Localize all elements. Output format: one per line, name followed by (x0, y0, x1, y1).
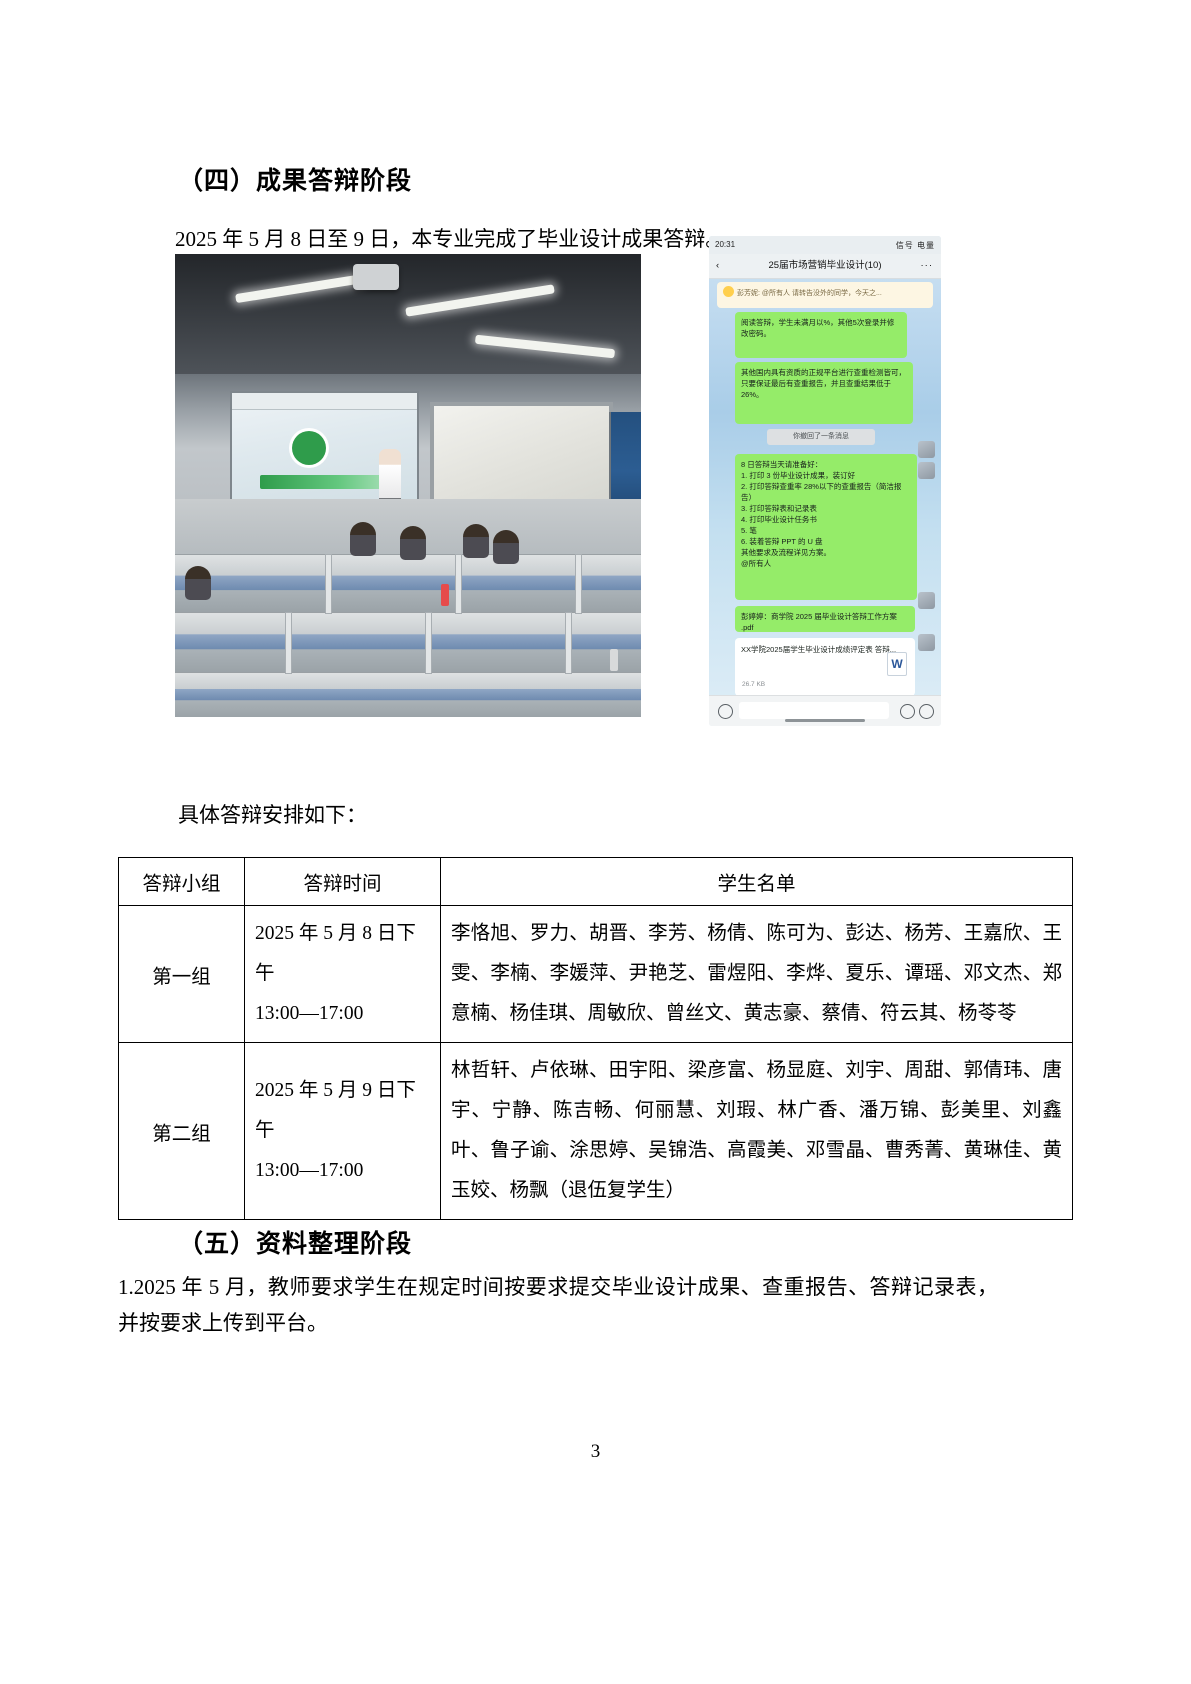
student-figure (400, 526, 426, 560)
screen-banner (260, 475, 390, 489)
projector (353, 264, 399, 290)
cell-time: 2025 年 5 月 9 日下午 13:00—17:00 (245, 1043, 441, 1220)
student-figure (493, 530, 519, 564)
avatar (918, 592, 935, 609)
cell-group: 第二组 (119, 1043, 245, 1220)
screen-logo (292, 431, 326, 465)
section-five-heading: （五）资料整理阶段 (178, 1224, 412, 1260)
cell-timerange: 13:00—17:00 (255, 994, 430, 1034)
cell-group: 第一组 (119, 906, 245, 1043)
file-name: XX学院2025届学生毕业设计成绩评定表 答辩... (741, 645, 896, 654)
cell-timerange: 13:00—17:00 (255, 1151, 430, 1191)
table-row: 第一组 2025 年 5 月 8 日下午 13:00—17:00 李恪旭、罗力、… (119, 906, 1073, 1043)
water-bottle (610, 649, 618, 671)
header-time: 答辩时间 (245, 858, 441, 906)
page-number: 3 (0, 1441, 1191, 1463)
student-figure (350, 522, 376, 556)
screen-toolbar (232, 393, 417, 410)
file-size: 26.7 KB (742, 679, 765, 690)
desk-row (175, 554, 641, 613)
back-icon[interactable]: ‹ (716, 254, 719, 278)
file-card[interactable]: XX学院2025届学生毕业设计成绩评定表 答辩... W 26.7 KB (735, 638, 915, 696)
document-page: （四）成果答辩阶段 2025 年 5 月 8 日至 9 日，本专业完成了毕业设计… (0, 0, 1191, 1684)
avatar (918, 462, 935, 479)
add-icon[interactable] (919, 704, 934, 719)
chat-bubble: 8 日答辩当天请准备好： 1. 打印 3 份毕业设计成果，装订好 2. 打印答辩… (735, 454, 917, 600)
home-indicator (785, 719, 865, 722)
word-file-icon: W (887, 652, 907, 676)
notice-text: 彭芳妮: @所有人 请转告没外的同学，今天之... (737, 290, 882, 297)
more-icon[interactable]: ··· (921, 254, 934, 278)
phone-status-bar: 20:31 信号 电量 (709, 236, 941, 254)
table-header-row: 答辩小组 答辩时间 学生名单 (119, 858, 1073, 906)
cell-date: 2025 年 5 月 8 日下午 (255, 914, 430, 994)
header-students: 学生名单 (441, 858, 1073, 906)
cell-students: 林哲轩、卢依琳、田宇阳、梁彦富、杨显庭、刘宇、周甜、郭倩玮、唐宇、宁静、陈吉畅、… (441, 1043, 1073, 1220)
voice-icon[interactable] (718, 704, 733, 719)
desk-divider (325, 554, 332, 614)
header-group: 答辩小组 (119, 858, 245, 906)
chat-bubble: 其他国内具有资质的正规平台进行查重检测皆可，只要保证最后有查重报告，并且查重结果… (735, 362, 913, 424)
final-paragraph: 1.2025 年 5 月，教师要求学生在规定时间按要求提交毕业设计成果、查重报告… (118, 1269, 998, 1341)
desk-divider (285, 612, 292, 674)
schedule-label: 具体答辩安排如下： (178, 797, 778, 833)
chat-bubble-file-link[interactable]: 彭婷婷：商学院 2025 届毕业设计答辩工作方案 .pdf (735, 606, 915, 632)
chat-input[interactable] (739, 702, 889, 719)
desk-divider (455, 554, 462, 614)
desk-row (175, 672, 641, 717)
defense-schedule-table: 答辩小组 答辩时间 学生名单 第一组 2025 年 5 月 8 日下午 13:0… (118, 857, 1073, 1220)
group-notice[interactable]: 彭芳妮: @所有人 请转告没外的同学，今天之... (717, 282, 933, 308)
wechat-screenshot: 20:31 信号 电量 ‹ 25届市场营销毕业设计(10) ··· 彭芳妮: @… (709, 236, 941, 726)
cell-time: 2025 年 5 月 8 日下午 13:00—17:00 (245, 906, 441, 1043)
student-figure (185, 566, 211, 600)
water-bottle (441, 584, 449, 606)
status-time: 20:31 (715, 240, 735, 249)
system-message: 你撤回了一条消息 (767, 429, 875, 445)
avatar (918, 634, 935, 651)
table-row: 第二组 2025 年 5 月 9 日下午 13:00—17:00 林哲轩、卢依琳… (119, 1043, 1073, 1220)
student-figure (463, 524, 489, 558)
emoji-icon[interactable] (900, 704, 915, 719)
notice-avatar-icon (723, 286, 734, 297)
chat-title-bar: ‹ 25届市场营销毕业设计(10) ··· (709, 254, 941, 279)
cell-date: 2025 年 5 月 9 日下午 (255, 1071, 430, 1151)
avatar (918, 441, 935, 458)
status-icons: 信号 电量 (896, 240, 935, 251)
chat-group-title: 25届市场营销毕业设计(10) (769, 260, 882, 271)
chat-bubble: 阅读答辩，学生未满月以%，其他5次登录并修改密码。 (735, 312, 907, 358)
desk-divider (425, 612, 432, 674)
desk-divider (575, 554, 582, 614)
section-four-heading: （四）成果答辩阶段 (178, 161, 412, 197)
classroom-photo (175, 254, 641, 717)
desk-divider (565, 612, 572, 674)
cell-students: 李恪旭、罗力、胡晋、李芳、杨倩、陈可为、彭达、杨芳、王嘉欣、王雯、李楠、李媛萍、… (441, 906, 1073, 1043)
